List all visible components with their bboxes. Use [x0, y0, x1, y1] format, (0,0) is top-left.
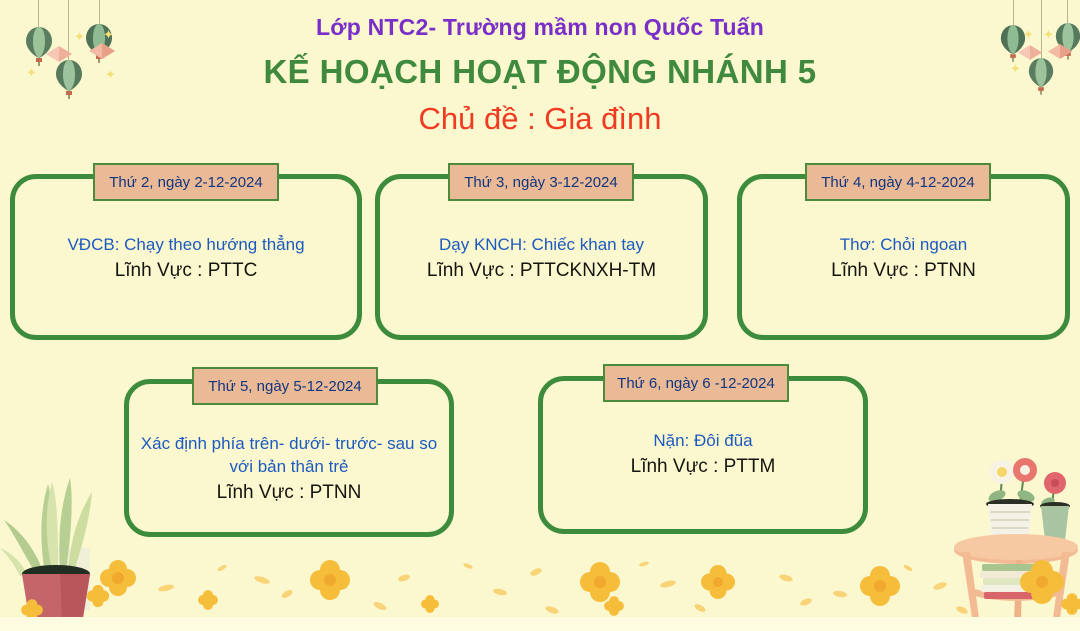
field-text: Lĩnh Vực : PTNN [139, 481, 439, 505]
bottom-band [0, 617, 1080, 631]
page-subtitle-theme: Chủ đề : Gia đình [0, 101, 1080, 137]
field-text: Lĩnh Vực : PTTC [25, 259, 347, 283]
field-text: Lĩnh Vực : PTTM [553, 455, 853, 479]
activity-text: VĐCB: Chạy theo hướng thẳng [25, 233, 347, 256]
slide-canvas: ✦ ✦ ✦ ✦ [0, 0, 1080, 631]
date-badge-label: Thứ 3, ngày 3-12-2024 [464, 174, 617, 191]
activity-text: Nặn: Đôi đũa [553, 429, 853, 452]
activity-text: Dạy KNCH: Chiếc khan tay [390, 233, 693, 256]
date-badge: Thứ 6, ngày 6 -12-2024 [603, 364, 789, 402]
date-badge-label: Thứ 5, ngày 5-12-2024 [208, 378, 361, 395]
date-badge-label: Thứ 6, ngày 6 -12-2024 [617, 375, 775, 392]
date-badge: Thứ 2, ngày 2-12-2024 [93, 163, 279, 201]
date-badge: Thứ 5, ngày 5-12-2024 [192, 367, 378, 405]
page-title: KẾ HOẠCH HOẠT ĐỘNG NHÁNH 5 [0, 53, 1080, 91]
day-card[interactable]: Thứ 4, ngày 4-12-2024 Thơ: Chỏi ngoan Lĩ… [737, 174, 1070, 340]
card-body: Nặn: Đôi đũa Lĩnh Vực : PTTM [543, 429, 863, 479]
date-badge: Thứ 3, ngày 3-12-2024 [448, 163, 634, 201]
field-text: Lĩnh Vực : PTTCKNXH-TM [390, 259, 693, 283]
activity-text: Thơ: Chỏi ngoan [752, 233, 1055, 256]
day-card[interactable]: Thứ 5, ngày 5-12-2024 Xác định phía trên… [124, 379, 454, 537]
day-card[interactable]: Thứ 3, ngày 3-12-2024 Dạy KNCH: Chiếc kh… [375, 174, 708, 340]
activity-text: Xác định phía trên- dưới- trước- sau so … [139, 432, 439, 478]
potted-plant-decoration [0, 448, 130, 628]
day-card[interactable]: Thứ 2, ngày 2-12-2024 VĐCB: Chạy theo hư… [10, 174, 362, 340]
field-text: Lĩnh Vực : PTNN [752, 259, 1055, 283]
card-body: Xác định phía trên- dưới- trước- sau so … [129, 432, 449, 505]
card-body: Thơ: Chỏi ngoan Lĩnh Vực : PTNN [742, 233, 1065, 283]
card-body: Dạy KNCH: Chiếc khan tay Lĩnh Vực : PTTC… [380, 233, 703, 283]
date-badge: Thứ 4, ngày 4-12-2024 [805, 163, 991, 201]
card-body: VĐCB: Chạy theo hướng thẳng Lĩnh Vực : P… [15, 233, 357, 283]
side-table-decoration [952, 448, 1080, 631]
day-card[interactable]: Thứ 6, ngày 6 -12-2024 Nặn: Đôi đũa Lĩnh… [538, 376, 868, 534]
date-badge-label: Thứ 2, ngày 2-12-2024 [109, 174, 262, 191]
page-subheader-school: Lớp NTC2- Trường mầm non Quốc Tuấn [0, 14, 1080, 41]
date-badge-label: Thứ 4, ngày 4-12-2024 [821, 174, 974, 191]
